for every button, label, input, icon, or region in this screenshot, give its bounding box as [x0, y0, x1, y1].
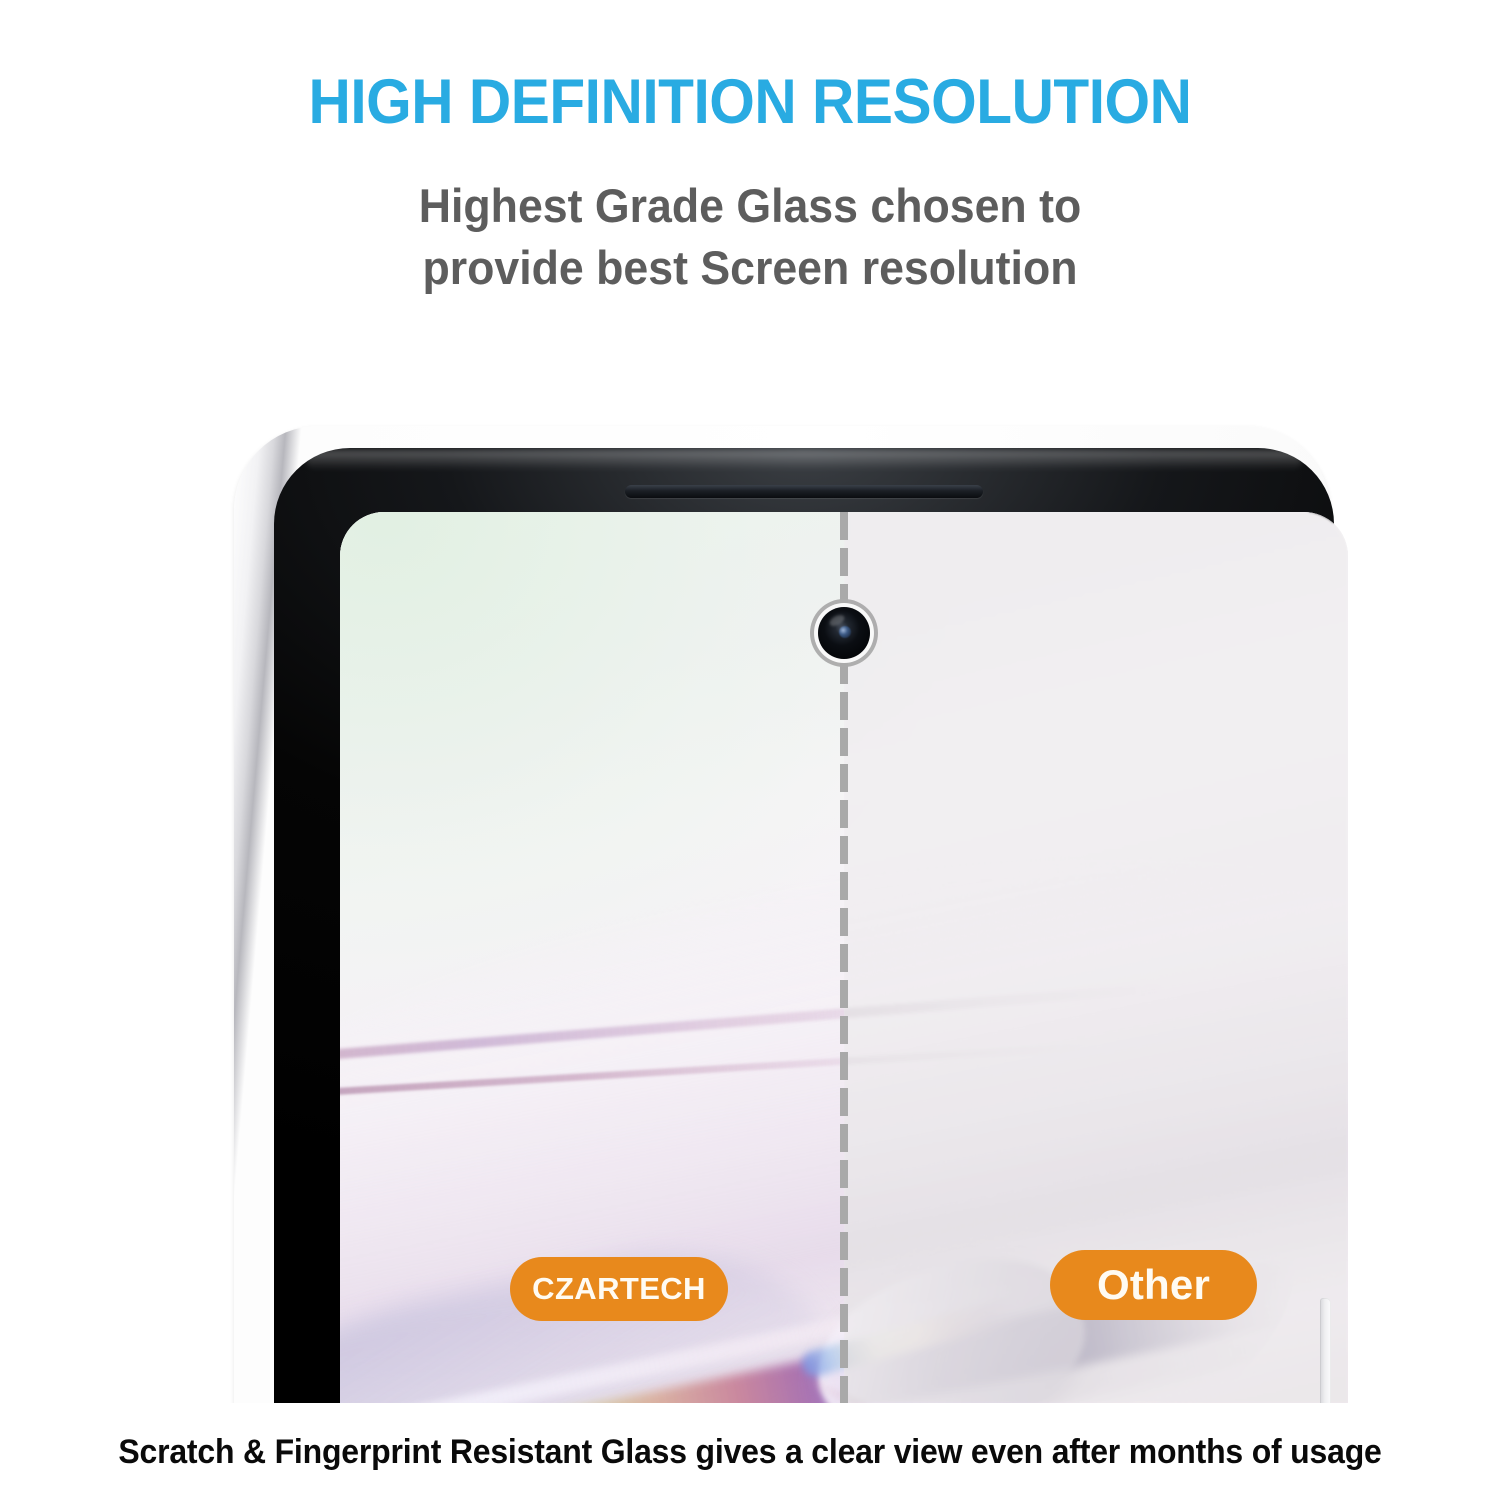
page-subtitle: Highest Grade Glass chosen to provide be…	[38, 175, 1463, 299]
page-headline: HIGH DEFINITION RESOLUTION	[53, 66, 1448, 138]
phone-bezel: CZARTECH Other	[274, 448, 1334, 1403]
badge-czartech: CZARTECH	[510, 1257, 728, 1321]
badge-other: Other	[1050, 1250, 1257, 1320]
page-subtitle-line-2: provide best Screen resolution	[38, 237, 1463, 299]
earpiece-speaker-icon	[625, 485, 983, 498]
power-button[interactable]	[1320, 1298, 1331, 1403]
page-subtitle-line-1: Highest Grade Glass chosen to	[419, 179, 1081, 232]
phone-screen: CZARTECH Other	[340, 512, 1348, 1403]
footer-caption: Scratch & Fingerprint Resistant Glass gi…	[45, 1433, 1455, 1472]
front-camera-icon	[818, 607, 870, 659]
phone-chassis: CZARTECH Other	[234, 426, 1330, 1403]
phone-mockup: CZARTECH Other	[212, 418, 1352, 1403]
